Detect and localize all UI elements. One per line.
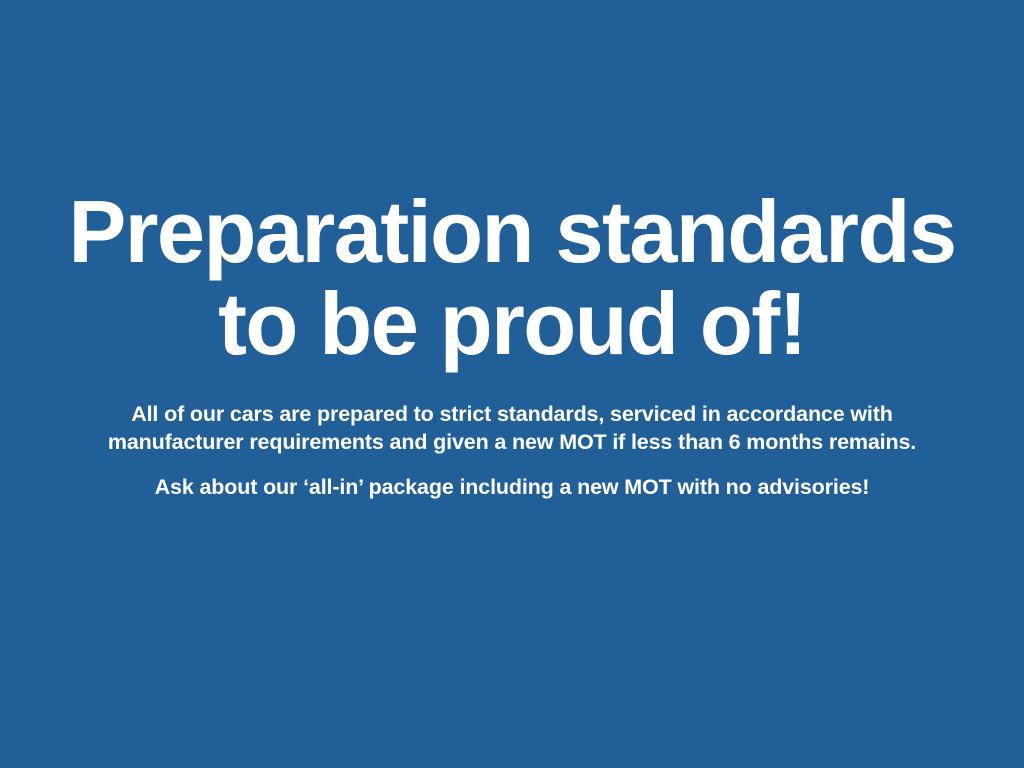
slide-canvas: Preparation standards to be proud of! Al…	[0, 0, 1024, 768]
body-paragraph-standards: All of our cars are prepared to strict s…	[66, 400, 958, 456]
body-paragraph-all-in-package: Ask about our ‘all-in’ package including…	[66, 473, 958, 501]
headline-line-1: Preparation standards	[63, 186, 961, 278]
body-copy: All of our cars are prepared to strict s…	[66, 400, 958, 501]
headline-line-2: to be proud of!	[63, 278, 961, 370]
page-title: Preparation standards to be proud of!	[56, 186, 968, 370]
